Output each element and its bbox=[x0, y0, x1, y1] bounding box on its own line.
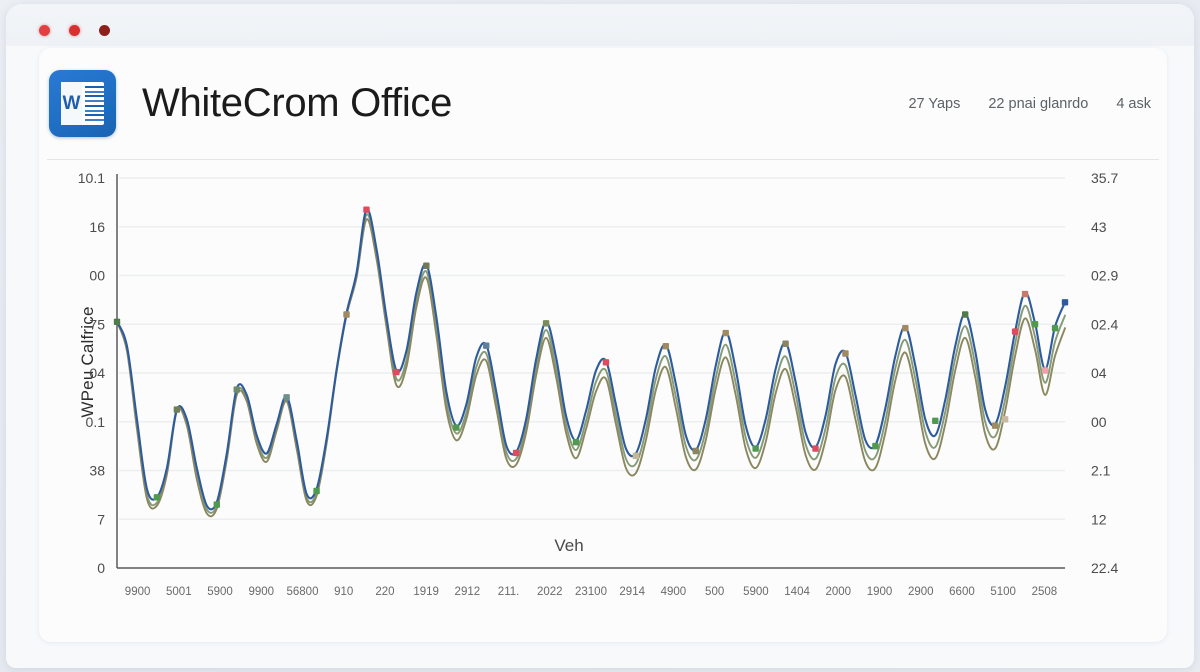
marker-tan[interactable] bbox=[1022, 291, 1028, 297]
marker-olive[interactable] bbox=[174, 406, 180, 412]
marker-tan[interactable] bbox=[633, 453, 639, 459]
header-stat-3[interactable]: 4 ask bbox=[1116, 96, 1151, 112]
x-axis-tick: 2508 bbox=[1032, 586, 1058, 598]
marker-green[interactable] bbox=[872, 443, 878, 449]
marker-olive[interactable] bbox=[543, 320, 549, 326]
marker-red[interactable] bbox=[513, 450, 519, 456]
marker-tan[interactable] bbox=[723, 330, 729, 336]
close-button-icon[interactable] bbox=[39, 25, 50, 36]
marker-green[interactable] bbox=[962, 311, 968, 317]
marker-blue[interactable] bbox=[283, 394, 289, 400]
marker-green[interactable] bbox=[573, 439, 579, 445]
window-titlebar bbox=[6, 4, 1194, 46]
page-title: WhiteCrom Office bbox=[142, 81, 452, 126]
chart-line-series-green bbox=[117, 214, 1065, 513]
x-axis-tick: 4900 bbox=[661, 586, 687, 598]
y-axis-tick-right: 02.9 bbox=[1091, 268, 1118, 284]
marker-green[interactable] bbox=[313, 488, 319, 494]
brand: W WhiteCrom Office bbox=[49, 70, 452, 137]
marker-tan[interactable] bbox=[842, 350, 848, 356]
y-axis-tick-right: 04 bbox=[1091, 365, 1107, 381]
marker-red[interactable] bbox=[1012, 328, 1018, 334]
y-axis-tick-left: 04 bbox=[89, 365, 105, 381]
y-axis-tick-left: 0.1 bbox=[86, 414, 106, 430]
x-axis-tick: 211. bbox=[498, 586, 520, 598]
y-axis-tick-right: 22.4 bbox=[1091, 560, 1118, 576]
x-axis-tick: 2900 bbox=[908, 586, 934, 598]
marker-blue[interactable] bbox=[483, 343, 489, 349]
x-axis-tick: 5100 bbox=[990, 586, 1016, 598]
y-axis-tick-right: 43 bbox=[1091, 219, 1107, 235]
marker-tan[interactable] bbox=[343, 311, 349, 317]
marker-olive[interactable] bbox=[693, 448, 699, 454]
marker-green[interactable] bbox=[752, 445, 758, 451]
icon-text-lines bbox=[85, 86, 104, 121]
marker-red[interactable] bbox=[393, 369, 399, 375]
minimize-button-icon[interactable] bbox=[69, 25, 80, 36]
x-axis-tick: 9900 bbox=[248, 586, 274, 598]
x-axis-tick: 220 bbox=[375, 586, 394, 598]
marker-tan[interactable] bbox=[992, 422, 998, 428]
marker-green[interactable] bbox=[154, 494, 160, 500]
x-axis-tick: 56800 bbox=[286, 586, 318, 598]
y-axis-tick-right: 2.1 bbox=[1091, 463, 1111, 479]
marker-olive[interactable] bbox=[782, 341, 788, 347]
word-document-icon: W bbox=[49, 70, 116, 137]
chart-container: WPeu Calfrice Veh 10.135.716430002.97502… bbox=[39, 160, 1167, 642]
marker-tan[interactable] bbox=[1002, 416, 1008, 422]
y-axis-tick-right: 02.4 bbox=[1091, 316, 1118, 332]
y-axis-tick-left: 38 bbox=[89, 463, 105, 479]
header-stat-1[interactable]: 27 Yaps bbox=[908, 96, 960, 112]
marker-tan[interactable] bbox=[902, 325, 908, 331]
y-axis-tick-left: 7 bbox=[97, 511, 105, 527]
line-chart[interactable]: 10.135.716430002.97502.404040.100382.171… bbox=[39, 160, 1167, 642]
x-axis-tick: 6600 bbox=[949, 586, 975, 598]
application-window: W WhiteCrom Office 27 Yaps 22 pnai glanr… bbox=[6, 4, 1194, 668]
marker-tan[interactable] bbox=[663, 343, 669, 349]
marker-pink[interactable] bbox=[1042, 367, 1048, 373]
header-stats: 27 Yaps 22 pnai glanrdo 4 ask bbox=[908, 96, 1151, 112]
y-axis-tick-left: 10.1 bbox=[78, 170, 105, 186]
x-axis-tick: 9900 bbox=[125, 586, 151, 598]
header-stat-2[interactable]: 22 pnai glanrdo bbox=[988, 96, 1088, 112]
marker-green[interactable] bbox=[453, 424, 459, 430]
x-axis-tick: 23100 bbox=[575, 586, 607, 598]
marker-green[interactable] bbox=[114, 319, 120, 325]
y-axis-tick-left: 0 bbox=[97, 560, 105, 576]
marker-green[interactable] bbox=[932, 418, 938, 424]
app-header: W WhiteCrom Office 27 Yaps 22 pnai glanr… bbox=[39, 48, 1167, 160]
app-root: W WhiteCrom Office 27 Yaps 22 pnai glanr… bbox=[0, 0, 1200, 672]
marker-red[interactable] bbox=[603, 359, 609, 365]
marker-green[interactable] bbox=[1032, 321, 1038, 327]
window-controls[interactable] bbox=[39, 25, 110, 36]
y-axis-tick-left: 00 bbox=[89, 268, 105, 284]
x-axis-tick: 2000 bbox=[826, 586, 852, 598]
x-axis-tick: 2912 bbox=[455, 586, 481, 598]
marker-olive[interactable] bbox=[234, 386, 240, 392]
icon-letter: W bbox=[61, 82, 82, 125]
x-axis-tick: 5001 bbox=[166, 586, 192, 598]
chart-line-series-blue bbox=[117, 209, 1065, 509]
x-axis-tick: 2022 bbox=[537, 586, 563, 598]
marker-green[interactable] bbox=[214, 501, 220, 507]
marker-red[interactable] bbox=[812, 445, 818, 451]
x-axis-tick: 910 bbox=[334, 586, 353, 598]
y-axis-tick-right: 35.7 bbox=[1091, 170, 1118, 186]
marker-green[interactable] bbox=[1052, 325, 1058, 331]
content-card: W WhiteCrom Office 27 Yaps 22 pnai glanr… bbox=[39, 48, 1167, 642]
y-axis-tick-left: 16 bbox=[89, 219, 105, 235]
y-axis-tick-right: 12 bbox=[1091, 511, 1107, 527]
x-axis-tick: 1919 bbox=[413, 586, 439, 598]
x-axis-tick: 1900 bbox=[867, 586, 893, 598]
marker-red[interactable] bbox=[363, 206, 369, 212]
x-axis-tick: 1404 bbox=[784, 586, 810, 598]
x-axis-tick: 500 bbox=[705, 586, 724, 598]
chart-line-series-olive bbox=[117, 219, 1065, 516]
maximize-button-icon[interactable] bbox=[99, 25, 110, 36]
x-axis-tick: 2914 bbox=[619, 586, 645, 598]
y-axis-tick-left: 75 bbox=[89, 316, 105, 332]
x-axis-tick: 5900 bbox=[743, 586, 769, 598]
marker-olive[interactable] bbox=[423, 263, 429, 269]
x-axis-tick: 5900 bbox=[207, 586, 233, 598]
y-axis-tick-right: 00 bbox=[1091, 414, 1107, 430]
marker-blue[interactable] bbox=[1062, 299, 1068, 305]
